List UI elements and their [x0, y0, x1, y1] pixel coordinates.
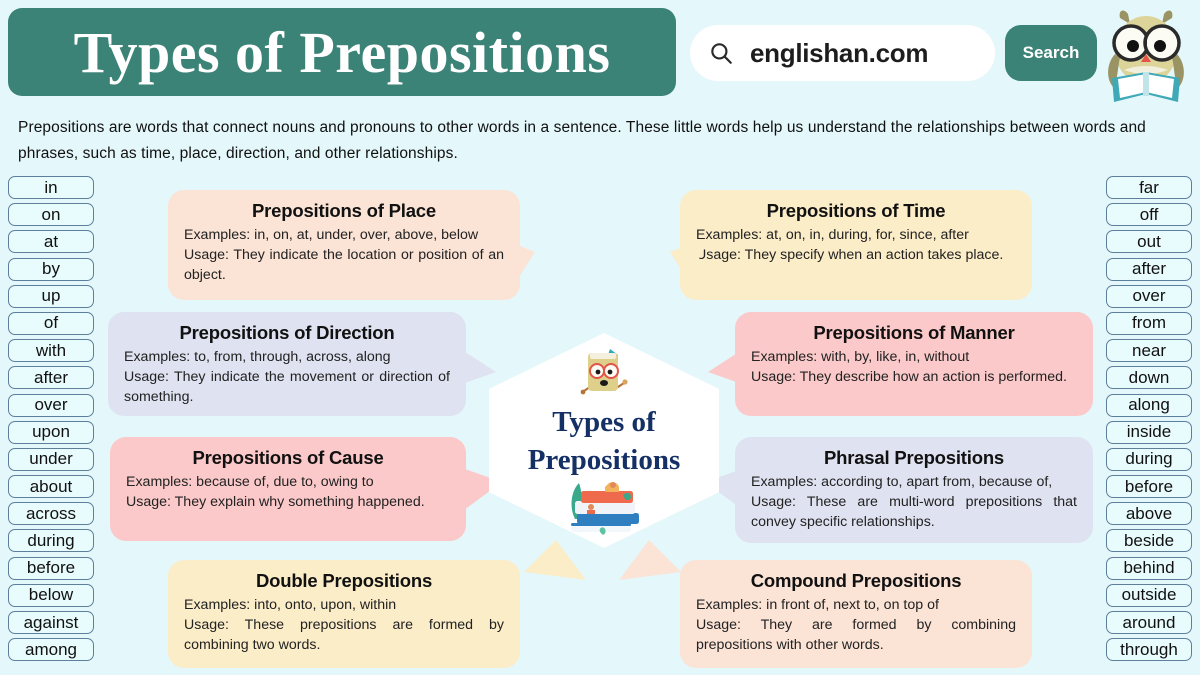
preposition-chip[interactable]: from	[1106, 312, 1192, 335]
card-usage: Usage: These are multi-word prepositions…	[751, 492, 1077, 532]
card-title: Double Prepositions	[184, 570, 504, 592]
card-title: Compound Prepositions	[696, 570, 1016, 592]
preposition-chip[interactable]: over	[8, 394, 94, 417]
infographic-canvas: Types of Prepositions englishan.com Sear…	[0, 0, 1200, 675]
card-examples: Examples: with, by, like, in, without	[751, 347, 1077, 367]
card-phrasal-prepositions[interactable]: Phrasal Prepositions Examples: according…	[735, 437, 1093, 543]
intro-paragraph: Prepositions are words that connect noun…	[18, 115, 1183, 167]
search-icon	[708, 40, 734, 66]
preposition-chip[interactable]: off	[1106, 203, 1192, 226]
card-prepositions-of-time[interactable]: Prepositions of Time Examples: at, on, i…	[680, 190, 1032, 300]
stack-of-books-icon	[561, 479, 651, 541]
preposition-chip[interactable]: after	[1106, 258, 1192, 281]
card-prepositions-of-place[interactable]: Prepositions of Place Examples: in, on, …	[168, 190, 520, 300]
card-examples: Examples: into, onto, upon, within	[184, 595, 504, 615]
card-examples: Examples: at, on, in, during, for, since…	[696, 225, 1016, 245]
card-double-prepositions[interactable]: Double Prepositions Examples: into, onto…	[168, 560, 520, 668]
preposition-chip[interactable]: during	[1106, 448, 1192, 471]
preposition-chip[interactable]: inside	[1106, 421, 1192, 444]
card-tail-compound	[615, 540, 705, 590]
card-usage: Usage: They indicate the movement or dir…	[124, 367, 450, 407]
preposition-chip[interactable]: before	[1106, 475, 1192, 498]
preposition-chip[interactable]: upon	[8, 421, 94, 444]
right-preposition-list: far off out after over from near down al…	[1106, 176, 1192, 661]
preposition-chip[interactable]: under	[8, 448, 94, 471]
card-title: Prepositions of Cause	[126, 447, 450, 469]
preposition-chip[interactable]: on	[8, 203, 94, 226]
card-prepositions-of-direction[interactable]: Prepositions of Direction Examples: to, …	[108, 312, 466, 416]
center-title: Types of Prepositions	[528, 403, 681, 479]
card-usage: Usage: They explain why something happen…	[126, 492, 450, 512]
preposition-chip[interactable]: around	[1106, 611, 1192, 634]
center-hexagon: Types of Prepositions	[489, 333, 719, 548]
preposition-chip[interactable]: below	[8, 584, 94, 607]
card-tail-time	[620, 240, 700, 320]
card-usage: Usage: They are formed by combining prep…	[696, 615, 1016, 655]
search-button[interactable]: Search	[1005, 25, 1097, 81]
preposition-chip[interactable]: across	[8, 502, 94, 525]
card-compound-prepositions[interactable]: Compound Prepositions Examples: in front…	[680, 560, 1032, 668]
preposition-chip[interactable]: in	[8, 176, 94, 199]
preposition-chip[interactable]: before	[8, 557, 94, 580]
preposition-chip[interactable]: down	[1106, 366, 1192, 389]
card-title: Prepositions of Place	[184, 200, 504, 222]
card-title: Prepositions of Direction	[124, 322, 450, 344]
preposition-chip[interactable]: far	[1106, 176, 1192, 199]
left-preposition-list: in on at by up of with after over upon u…	[8, 176, 94, 661]
card-title: Prepositions of Manner	[751, 322, 1077, 344]
card-examples: Examples: according to, apart from, beca…	[751, 472, 1077, 492]
card-usage: Usage: These prepositions are formed by …	[184, 615, 504, 655]
preposition-chip[interactable]: after	[8, 366, 94, 389]
card-prepositions-of-manner[interactable]: Prepositions of Manner Examples: with, b…	[735, 312, 1093, 416]
search-input-value: englishan.com	[750, 38, 928, 69]
preposition-chip[interactable]: of	[8, 312, 94, 335]
preposition-chip[interactable]: over	[1106, 285, 1192, 308]
preposition-chip[interactable]: outside	[1106, 584, 1192, 607]
search-area: englishan.com Search	[690, 25, 1097, 81]
preposition-chip[interactable]: out	[1106, 230, 1192, 253]
card-title: Prepositions of Time	[696, 200, 1016, 222]
card-usage: Usage: They indicate the location or pos…	[184, 245, 504, 285]
preposition-chip[interactable]: through	[1106, 638, 1192, 661]
preposition-chip[interactable]: behind	[1106, 557, 1192, 580]
preposition-chip[interactable]: by	[8, 258, 94, 281]
owl-reading-book-icon	[1094, 2, 1198, 106]
preposition-chip[interactable]: along	[1106, 394, 1192, 417]
page-title: Types of Prepositions	[74, 19, 611, 86]
card-prepositions-of-cause[interactable]: Prepositions of Cause Examples: because …	[110, 437, 466, 541]
card-examples: Examples: because of, due to, owing to	[126, 472, 450, 492]
header-title-bar: Types of Prepositions	[8, 8, 676, 96]
card-examples: Examples: in front of, next to, on top o…	[696, 595, 1016, 615]
card-title: Phrasal Prepositions	[751, 447, 1077, 469]
preposition-chip[interactable]: up	[8, 285, 94, 308]
card-examples: Examples: to, from, through, across, alo…	[124, 347, 450, 367]
preposition-chip[interactable]: among	[8, 638, 94, 661]
preposition-chip[interactable]: with	[8, 339, 94, 362]
card-usage: Usage: They specify when an action takes…	[696, 245, 1016, 265]
mascot-book-with-glasses-icon	[580, 347, 628, 397]
card-examples: Examples: in, on, at, under, over, above…	[184, 225, 504, 245]
card-tail-double	[500, 540, 590, 590]
card-tail-place	[505, 240, 585, 320]
preposition-chip[interactable]: against	[8, 611, 94, 634]
card-usage: Usage: They describe how an action is pe…	[751, 367, 1077, 387]
preposition-chip[interactable]: at	[8, 230, 94, 253]
preposition-chip[interactable]: above	[1106, 502, 1192, 525]
preposition-chip[interactable]: during	[8, 529, 94, 552]
preposition-chip[interactable]: beside	[1106, 529, 1192, 552]
preposition-chip[interactable]: about	[8, 475, 94, 498]
preposition-chip[interactable]: near	[1106, 339, 1192, 362]
search-input[interactable]: englishan.com	[690, 25, 995, 81]
